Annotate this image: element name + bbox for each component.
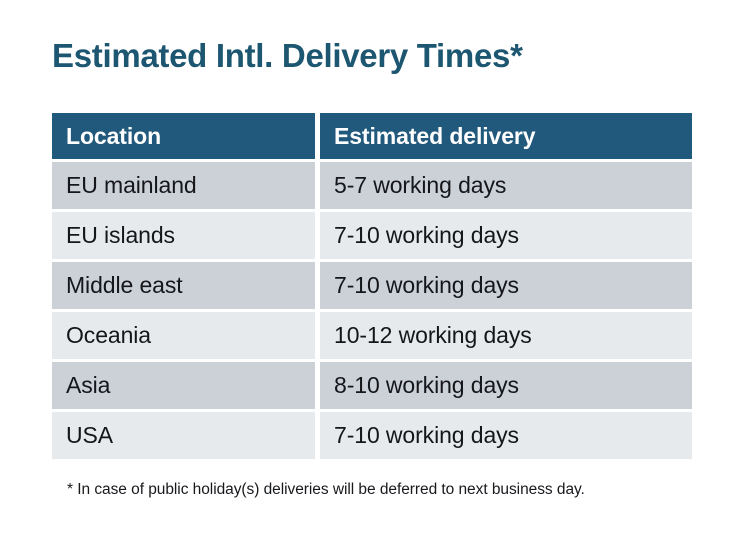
column-header-estimated-delivery: Estimated delivery bbox=[320, 113, 692, 159]
cell-estimated-delivery: 7-10 working days bbox=[320, 212, 692, 259]
footnote: * In case of public holiday(s) deliverie… bbox=[67, 481, 585, 499]
cell-location: EU islands bbox=[52, 212, 315, 259]
cell-estimated-delivery: 10-12 working days bbox=[320, 312, 692, 359]
cell-location: Middle east bbox=[52, 262, 315, 309]
page-title: Estimated Intl. Delivery Times* bbox=[52, 36, 523, 76]
cell-location: Oceania bbox=[52, 312, 315, 359]
table-row: Middle east 7-10 working days bbox=[52, 262, 692, 309]
delivery-times-panel: Estimated Intl. Delivery Times* Location… bbox=[0, 0, 745, 536]
table-row: USA 7-10 working days bbox=[52, 412, 692, 459]
cell-estimated-delivery: 7-10 working days bbox=[320, 262, 692, 309]
table-header-row: Location Estimated delivery bbox=[52, 113, 692, 159]
cell-location: EU mainland bbox=[52, 162, 315, 209]
cell-estimated-delivery: 7-10 working days bbox=[320, 412, 692, 459]
cell-location: Asia bbox=[52, 362, 315, 409]
cell-location: USA bbox=[52, 412, 315, 459]
table-row: EU mainland 5-7 working days bbox=[52, 162, 692, 209]
cell-estimated-delivery: 8-10 working days bbox=[320, 362, 692, 409]
table-row: EU islands 7-10 working days bbox=[52, 212, 692, 259]
cell-estimated-delivery: 5-7 working days bbox=[320, 162, 692, 209]
column-header-location: Location bbox=[52, 113, 315, 159]
table-row: Asia 8-10 working days bbox=[52, 362, 692, 409]
table-row: Oceania 10-12 working days bbox=[52, 312, 692, 359]
delivery-times-table: Location Estimated delivery EU mainland … bbox=[52, 113, 692, 459]
